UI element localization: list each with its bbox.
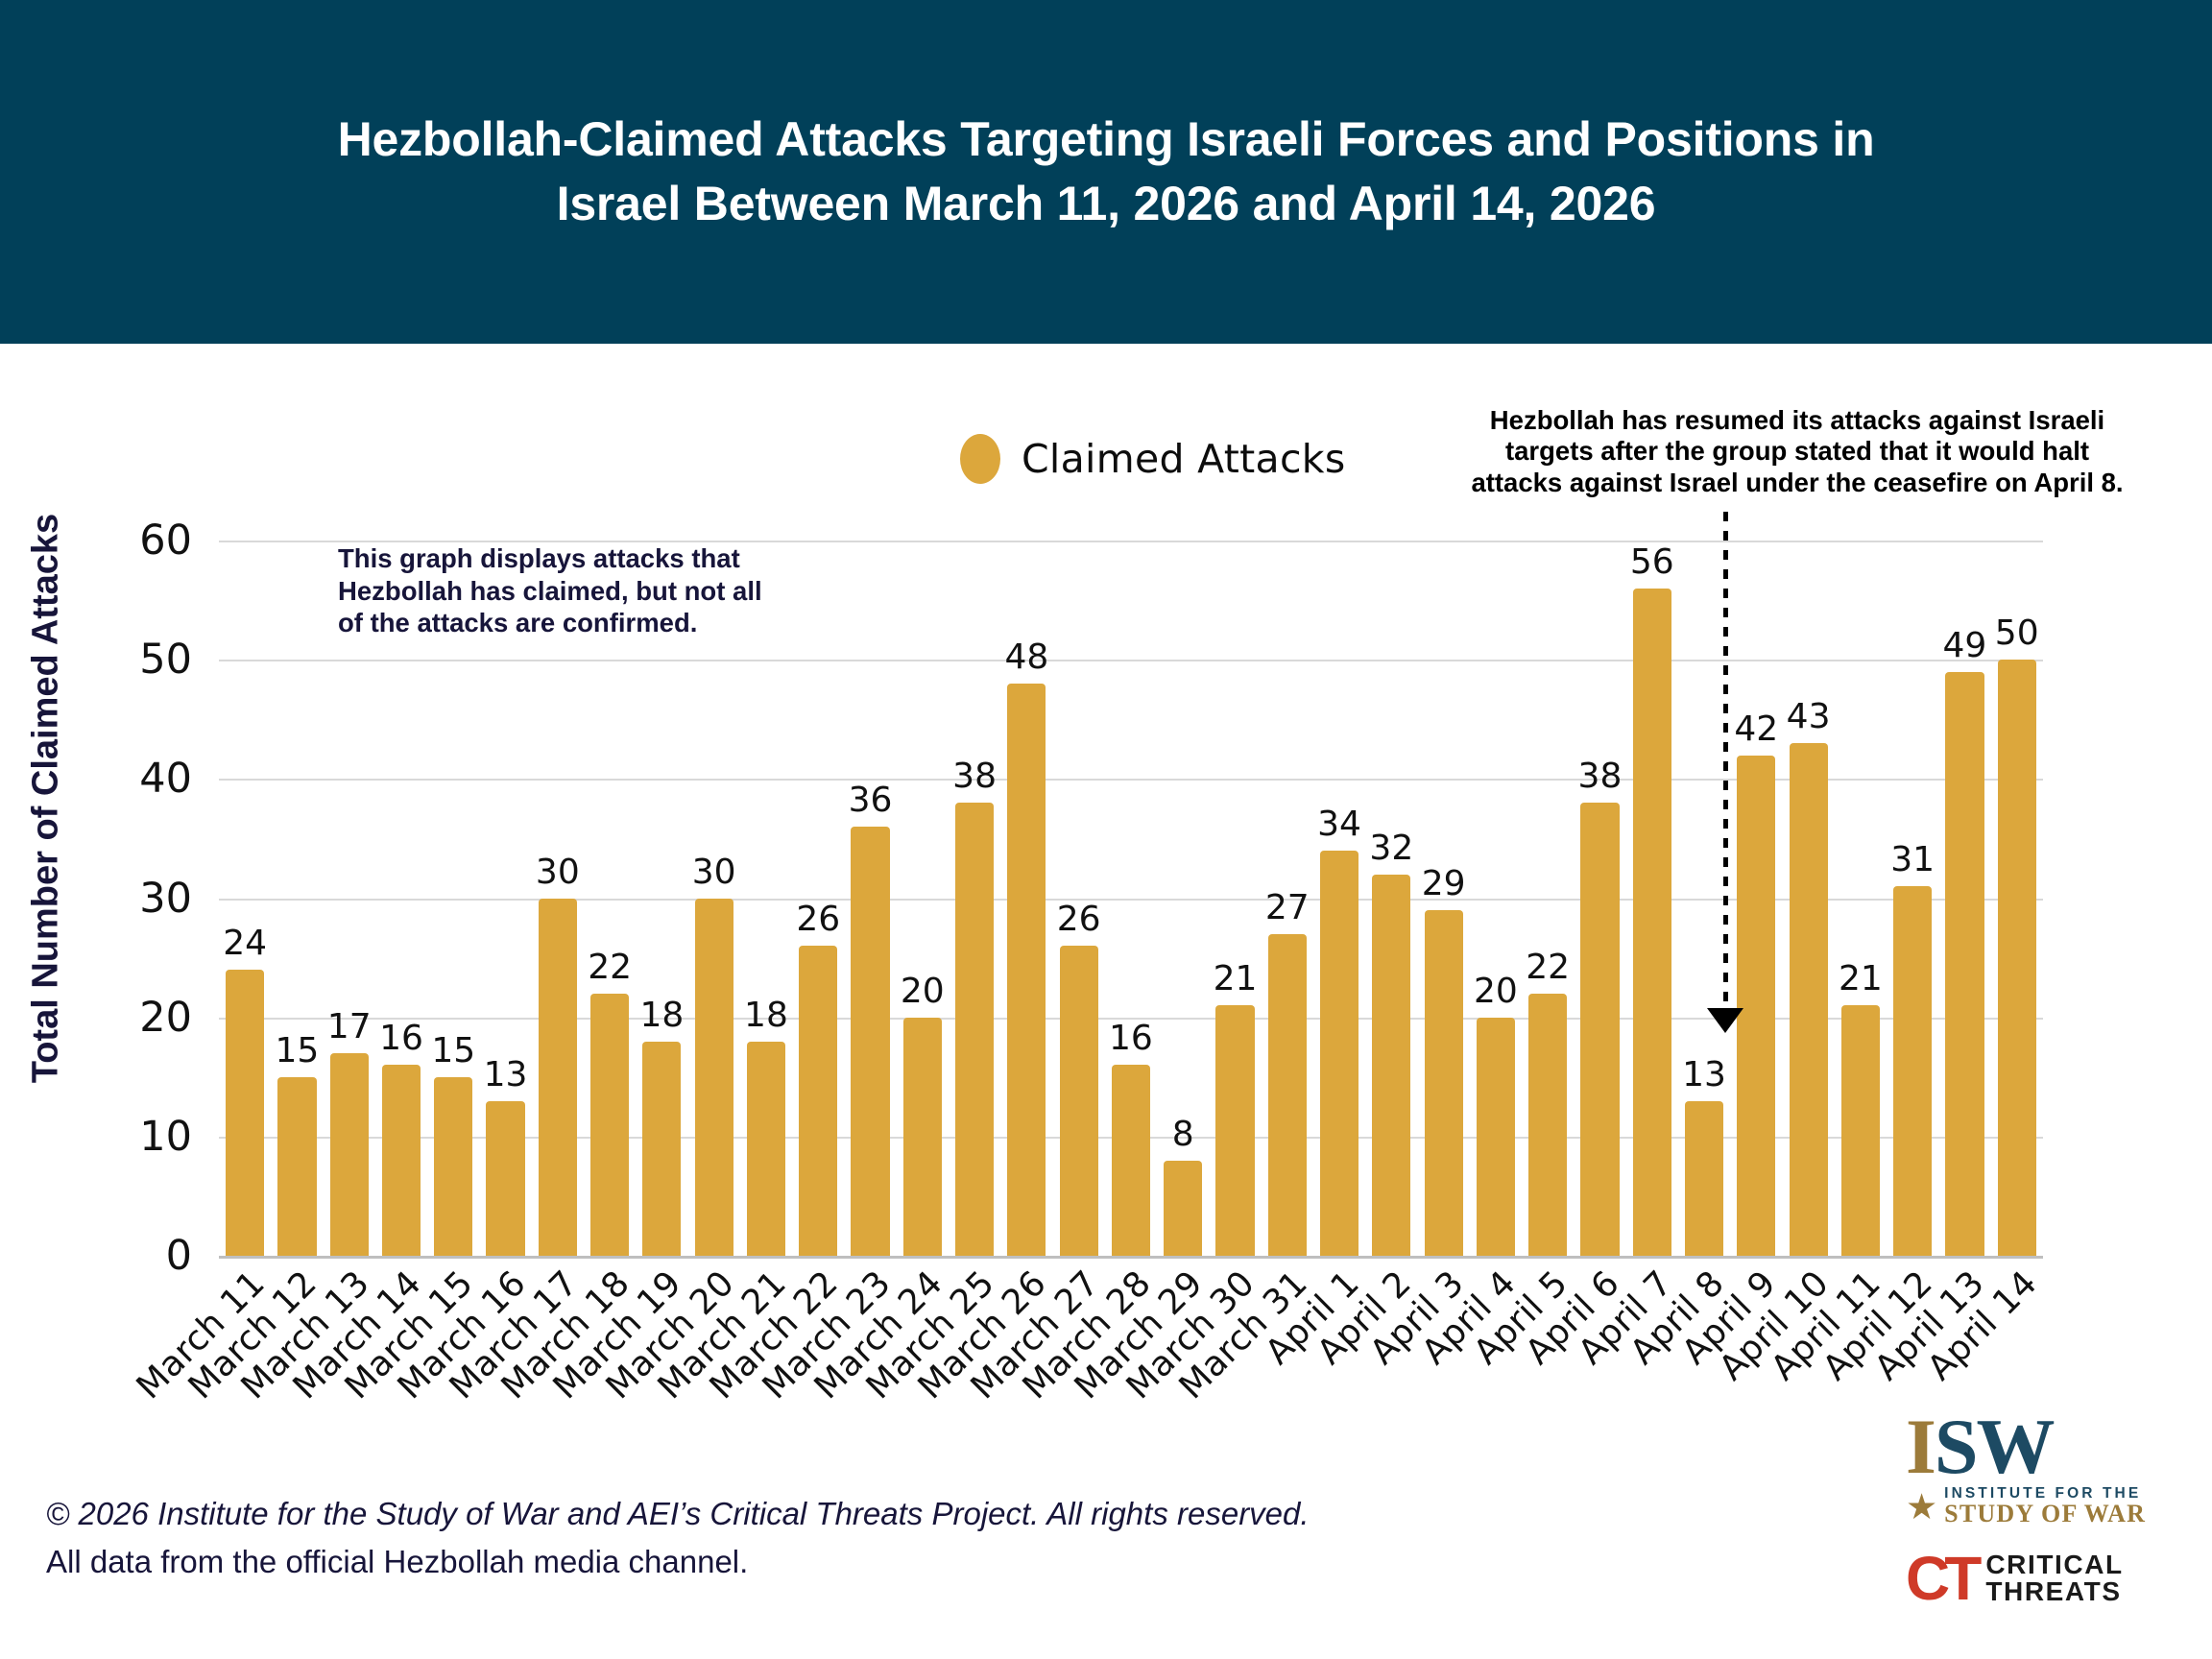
bar[interactable]: 20 — [1477, 1018, 1515, 1256]
bar-slot: 30 — [688, 541, 740, 1256]
y-tick-label: 30 — [92, 875, 192, 923]
bar-value-label: 26 — [1057, 900, 1101, 939]
y-tick-label: 50 — [92, 636, 192, 684]
dotted-arrow-head-icon — [1707, 1008, 1743, 1033]
bar-slot: 18 — [740, 541, 792, 1256]
footer: © 2026 Institute for the Study of War an… — [46, 1490, 1678, 1585]
bar-slot: 43 — [1782, 541, 1834, 1256]
chart-legend: Claimed Attacks — [960, 434, 1346, 484]
ct-monogram-icon: CT — [1906, 1552, 1976, 1604]
bar-value-label: 43 — [1787, 697, 1831, 736]
bar[interactable]: 26 — [1060, 946, 1098, 1256]
bar-series: 2415171615133022183018263620384826168212… — [219, 541, 2043, 1256]
bar-slot: 48 — [1000, 541, 1052, 1256]
bar-value-label: 26 — [796, 900, 840, 939]
ct-wordmark-line-2: THREATS — [1985, 1578, 2123, 1605]
bar[interactable]: 30 — [695, 899, 733, 1257]
bar[interactable]: 49 — [1945, 672, 1984, 1256]
bar-value-label: 18 — [744, 996, 788, 1035]
bar-slot: 17 — [324, 541, 375, 1256]
bar[interactable]: 24 — [226, 970, 264, 1256]
bar[interactable]: 50 — [1998, 660, 2036, 1256]
bar-slot: 50 — [1991, 541, 2043, 1256]
bar[interactable]: 43 — [1790, 743, 1828, 1256]
bar[interactable]: 36 — [851, 827, 889, 1256]
bar-value-label: 34 — [1317, 805, 1361, 844]
bar-value-label: 27 — [1265, 888, 1310, 927]
bar[interactable]: 42 — [1737, 756, 1775, 1257]
x-axis-line — [219, 1256, 2043, 1259]
bar[interactable]: 38 — [1580, 803, 1619, 1256]
bar-value-label: 30 — [692, 853, 736, 892]
bar[interactable]: 18 — [642, 1042, 681, 1257]
annotation-right-line-2: targets after the group stated that it w… — [1375, 436, 2212, 467]
bar-value-label: 16 — [379, 1019, 423, 1058]
bar[interactable]: 34 — [1320, 851, 1358, 1256]
y-tick-label: 60 — [92, 517, 192, 565]
bar[interactable]: 16 — [382, 1065, 421, 1256]
data-source-text: All data from the official Hezbollah med… — [46, 1538, 1678, 1586]
bar-slot: 15 — [271, 541, 323, 1256]
circle-marker-icon — [960, 434, 1000, 484]
bar[interactable]: 30 — [539, 899, 577, 1257]
bar[interactable]: 38 — [955, 803, 994, 1256]
bar-value-label: 29 — [1422, 864, 1466, 903]
y-tick-label: 0 — [92, 1232, 192, 1280]
bar[interactable]: 8 — [1164, 1161, 1202, 1256]
bar-slot: 26 — [792, 541, 844, 1256]
bar[interactable]: 22 — [1528, 994, 1567, 1256]
bar-slot: 13 — [1678, 541, 1730, 1256]
bar[interactable]: 48 — [1007, 684, 1046, 1256]
y-tick-label: 10 — [92, 1113, 192, 1161]
bar-slot: 8 — [1157, 541, 1209, 1256]
bar-value-label: 42 — [1734, 709, 1778, 749]
bar-slot: 42 — [1730, 541, 1782, 1256]
bar-value-label: 32 — [1369, 829, 1413, 868]
bar-value-label: 8 — [1172, 1115, 1194, 1154]
isw-wordmark: ISW — [1906, 1409, 2194, 1484]
bar[interactable]: 13 — [1685, 1101, 1723, 1256]
bar-value-label: 38 — [952, 757, 997, 796]
bar-slot: 16 — [375, 541, 427, 1256]
bar-value-label: 56 — [1630, 542, 1674, 582]
bar-slot: 16 — [1105, 541, 1157, 1256]
bar[interactable]: 32 — [1372, 875, 1410, 1256]
y-tick-label: 20 — [92, 994, 192, 1042]
isw-logo: ISW ★ INSTITUTE FOR THE STUDY OF WAR — [1906, 1409, 2194, 1527]
chart-page: Hezbollah-Claimed Attacks Targeting Isra… — [0, 0, 2212, 1659]
bar-value-label: 30 — [536, 853, 580, 892]
bar-value-label: 48 — [1004, 637, 1048, 677]
plot-area: 2415171615133022183018263620384826168212… — [219, 541, 2043, 1259]
bar-slot: 30 — [532, 541, 584, 1256]
bar-slot: 18 — [636, 541, 687, 1256]
bar[interactable]: 20 — [903, 1018, 942, 1256]
bar-value-label: 20 — [901, 972, 945, 1011]
isw-subtitle-line-2: STUDY OF WAR — [1944, 1502, 2146, 1527]
bar-slot: 22 — [584, 541, 636, 1256]
bar[interactable]: 17 — [330, 1053, 369, 1256]
bar-slot: 38 — [1574, 541, 1625, 1256]
bar[interactable]: 15 — [434, 1077, 472, 1256]
annotation-right: Hezbollah has resumed its attacks agains… — [1375, 405, 2212, 498]
bar-slot: 31 — [1887, 541, 1938, 1256]
bar[interactable]: 13 — [486, 1101, 524, 1256]
y-tick-label: 40 — [92, 755, 192, 803]
dotted-arrow-line-icon — [1723, 512, 1728, 1016]
bar-slot: 20 — [1470, 541, 1522, 1256]
bar-value-label: 13 — [484, 1055, 528, 1094]
bar[interactable]: 29 — [1425, 910, 1463, 1256]
bar[interactable]: 56 — [1633, 589, 1671, 1256]
bar[interactable]: 22 — [590, 994, 629, 1256]
bar-slot: 24 — [219, 541, 271, 1256]
bar-value-label: 38 — [1578, 757, 1623, 796]
bar-value-label: 21 — [1839, 959, 1883, 998]
bar-value-label: 15 — [431, 1031, 475, 1070]
bar-slot: 13 — [479, 541, 531, 1256]
bar-value-label: 22 — [1526, 948, 1570, 987]
bar-value-label: 18 — [639, 996, 684, 1035]
isw-wordmark-i: I — [1906, 1403, 1935, 1490]
annotation-right-line-3: attacks against Israel under the ceasefi… — [1375, 468, 2212, 498]
bar-value-label: 21 — [1214, 959, 1258, 998]
bar-value-label: 31 — [1890, 840, 1935, 879]
bar-slot: 20 — [897, 541, 949, 1256]
bar[interactable]: 26 — [799, 946, 837, 1256]
bar-slot: 29 — [1417, 541, 1469, 1256]
star-icon: ★ — [1906, 1489, 1937, 1525]
bar-value-label: 24 — [223, 924, 267, 963]
logo-group: ISW ★ INSTITUTE FOR THE STUDY OF WAR CT … — [1906, 1409, 2194, 1605]
bar-slot: 21 — [1209, 541, 1261, 1256]
bar[interactable]: 21 — [1215, 1005, 1254, 1256]
bar-value-label: 22 — [588, 948, 632, 987]
isw-wordmark-sw: SW — [1935, 1403, 2054, 1490]
bar[interactable]: 27 — [1268, 934, 1307, 1256]
bar-slot: 22 — [1522, 541, 1574, 1256]
bar-value-label: 36 — [849, 781, 893, 820]
bar-slot: 34 — [1313, 541, 1365, 1256]
bar-value-label: 20 — [1474, 972, 1518, 1011]
bar-slot: 36 — [844, 541, 896, 1256]
critical-threats-logo: CT CRITICAL THREATS — [1906, 1551, 2194, 1605]
bar-value-label: 49 — [1943, 626, 1987, 665]
bar[interactable]: 31 — [1893, 886, 1932, 1256]
bar-slot: 56 — [1626, 541, 1678, 1256]
bar-value-label: 50 — [1995, 613, 2039, 653]
bar-slot: 15 — [427, 541, 479, 1256]
isw-subtitle: ★ INSTITUTE FOR THE STUDY OF WAR — [1906, 1486, 2194, 1527]
legend-label: Claimed Attacks — [1022, 436, 1346, 482]
page-title-line-2: Israel Between March 11, 2026 and April … — [557, 172, 1656, 236]
ct-wordmark: CRITICAL THREATS — [1985, 1551, 2123, 1605]
bar-slot: 49 — [1938, 541, 1990, 1256]
bar-slot: 27 — [1262, 541, 1313, 1256]
bar-value-label: 15 — [276, 1031, 320, 1070]
bar[interactable]: 16 — [1112, 1065, 1150, 1256]
bar-value-label: 13 — [1682, 1055, 1726, 1094]
page-title-line-1: Hezbollah-Claimed Attacks Targeting Isra… — [338, 108, 1875, 172]
annotation-right-line-1: Hezbollah has resumed its attacks agains… — [1375, 405, 2212, 436]
isw-subtitle-text: INSTITUTE FOR THE STUDY OF WAR — [1944, 1486, 2146, 1527]
bar-value-label: 17 — [327, 1007, 372, 1046]
bar-slot: 21 — [1835, 541, 1887, 1256]
bar-slot: 26 — [1053, 541, 1105, 1256]
bar-slot: 32 — [1365, 541, 1417, 1256]
bar[interactable]: 21 — [1841, 1005, 1880, 1256]
ct-wordmark-line-1: CRITICAL — [1985, 1551, 2123, 1578]
header-band: Hezbollah-Claimed Attacks Targeting Isra… — [0, 0, 2212, 344]
copyright-text: © 2026 Institute for the Study of War an… — [46, 1490, 1678, 1538]
bar[interactable]: 15 — [277, 1077, 316, 1256]
bar[interactable]: 18 — [747, 1042, 785, 1257]
bar-slot: 38 — [949, 541, 1000, 1256]
bar-value-label: 16 — [1109, 1019, 1153, 1058]
